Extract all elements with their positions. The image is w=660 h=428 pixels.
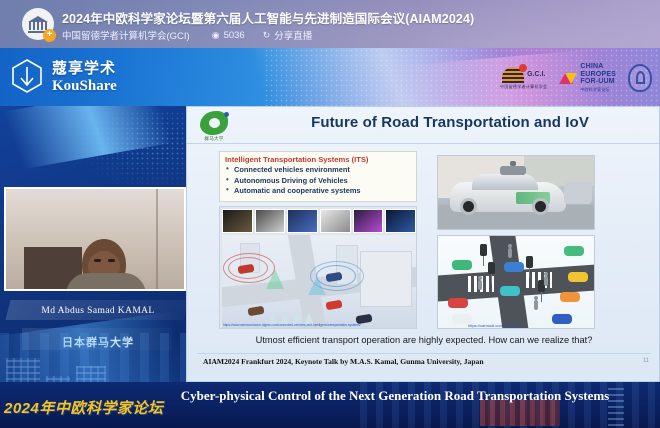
- bottom-banner: Cyber-physical Control of the Next Gener…: [0, 382, 660, 428]
- vehicle-cabin: [472, 174, 538, 190]
- pedestrian-3: [544, 276, 548, 286]
- university-logo-caption: 群马大学: [193, 136, 235, 142]
- its-bullet-3: Automatic and cooperative systems: [225, 186, 411, 197]
- webcam-door-edge: [156, 189, 158, 289]
- presentation-slide[interactable]: 群马大学 Future of Road Transportation and I…: [186, 106, 660, 382]
- speaker-shoulders: [66, 273, 146, 291]
- institution-icon: +: [22, 8, 54, 40]
- its-heading: Intelligent Transportation Systems (ITS): [225, 155, 411, 164]
- thumbnail-3: [287, 209, 318, 233]
- slide-title: Future of Road Transportation and IoV: [247, 114, 653, 131]
- thumbnail-2: [255, 209, 286, 233]
- gci-sun-icon: [502, 67, 524, 83]
- its-callout-box: Intelligent Transportation Systems (ITS)…: [219, 151, 417, 202]
- thumbnail-6: [385, 209, 416, 233]
- lightbulb-logo: [628, 64, 652, 92]
- background-vehicle: [564, 182, 592, 204]
- brand-name-en: KouShare: [52, 78, 117, 95]
- brand-band: 蔻享学术 KouShare G.C.I. 中国留德学者计算机学会 CHINA E…: [0, 48, 660, 106]
- hexagon-arrow-icon[interactable]: [10, 58, 44, 94]
- share-icon: ↻: [263, 30, 271, 41]
- diagram-vehicle-green: [452, 260, 472, 270]
- forum-line-3: FOR-UUM: [580, 78, 616, 86]
- slide-caption: Utmost efficient transport operation are…: [203, 335, 645, 345]
- lidar-sensor-icon: [500, 166, 526, 175]
- forum-subtext: 中欧科学家论坛: [580, 86, 616, 94]
- forum-text: CHINA EUROPES FOR-UUM 中欧科学家论坛: [580, 63, 616, 93]
- its-bullet-2: Autonomous Driving of Vehicles: [225, 176, 411, 187]
- building-a: [360, 251, 412, 307]
- china-europes-forum-logo: CHINA EUROPES FOR-UUM 中欧科学家论坛: [559, 63, 616, 93]
- diagram-vehicle-yellow: [568, 272, 588, 282]
- slide-title-divider: [187, 143, 660, 144]
- gci-mark: G.C.I.: [502, 67, 545, 83]
- organization-label: 中国留德学者计算机学会(GCI): [62, 28, 190, 42]
- speaker-eye-right: [108, 259, 115, 262]
- connected-intersection-illustration: https://www.semiconductor-digest.com/con…: [219, 206, 417, 329]
- slide-footer: AIAM2024 Frankfurt 2024, Keynote Talk by…: [203, 357, 603, 366]
- speaker-eye-left: [94, 259, 101, 262]
- forum-triangle-yellow-icon: [565, 73, 577, 84]
- diagram-vehicle-blue: [504, 262, 524, 272]
- gunma-university-logo: 群马大学: [193, 111, 235, 145]
- diagram-source-url[interactable]: https://carmudi.com/2017/10/: [468, 323, 520, 328]
- its-bullet-list: Connected vehicles environment Autonomou…: [225, 165, 411, 197]
- forum-mark: CHINA EUROPES FOR-UUM 中欧科学家论坛: [559, 63, 616, 93]
- livestream-page: + 2024年中欧科学家论坛暨第六届人工智能与先进制造国际会议(AIAM2024…: [0, 0, 660, 428]
- pedestrian-4: [534, 300, 538, 310]
- vehicle-brown: [247, 306, 264, 317]
- brand-name-cn: 蔻享学术: [52, 57, 116, 78]
- diagram-vehicle-cyan: [500, 286, 520, 296]
- banner-title: Cyber-physical Control of the Next Gener…: [180, 387, 610, 404]
- partner-logo-row: G.C.I. 中国留德学者计算机学会 CHINA EUROPES FOR-UUM…: [500, 56, 652, 100]
- pedestrian-1: [478, 280, 482, 290]
- forum-line-2: EUROPES: [580, 71, 616, 79]
- share-button[interactable]: ↻ 分享直播: [263, 28, 313, 42]
- forum-badge: 2024年中欧科学家论坛: [4, 392, 178, 422]
- diagram-vehicle-orange: [560, 292, 580, 302]
- vehicle-front-wheel: [460, 198, 477, 215]
- sensor-cone-green: [266, 269, 284, 289]
- intersection-scene: [222, 235, 416, 328]
- cooperative-intersection-diagram: https://carmudi.com/2017/10/: [437, 235, 595, 329]
- forum-badge-label: 2024年中欧科学家论坛: [4, 397, 163, 418]
- diagram-vehicle-green-2: [564, 246, 584, 256]
- thumbnail-1: [222, 209, 253, 233]
- view-count-value: 5036: [224, 30, 245, 41]
- eye-icon: ◉: [212, 30, 220, 41]
- university-dot-icon: [224, 112, 229, 117]
- gci-text: G.C.I.: [527, 71, 545, 78]
- thumbnail-strip: [222, 209, 416, 233]
- vehicle-red-2: [325, 300, 342, 311]
- diagram-vehicle-blue-2: [552, 314, 572, 324]
- traffic-light-2-icon: [488, 262, 495, 274]
- panel-dot-pattern: [70, 111, 190, 191]
- slide-page-number: 11: [643, 358, 649, 364]
- conference-title: 2024年中欧科学家论坛暨第六届人工智能与先进制造国际会议(AIAM2024): [62, 8, 474, 27]
- hexagon-arrow-svg: [10, 58, 44, 94]
- lightbulb-inner-icon: [636, 71, 645, 84]
- banner-tower: [608, 386, 624, 426]
- image-source-caption[interactable]: https://www.semiconductor-digest.com/con…: [223, 323, 413, 327]
- diagram-vehicle-red: [448, 298, 468, 308]
- its-bullet-1: Connected vehicles environment: [225, 165, 411, 176]
- forum-line-1: CHINA: [580, 63, 616, 71]
- thumbnail-4: [320, 209, 351, 233]
- conference-subline: 中国留德学者计算机学会(GCI) ◉ 5036 ↻ 分享直播: [62, 28, 312, 42]
- gci-subtext: 中国留德学者计算机学会: [500, 84, 547, 90]
- traffic-light-1-icon: [480, 244, 487, 256]
- sensor-cone-cyan: [308, 277, 326, 295]
- conference-header: + 2024年中欧科学家论坛暨第六届人工智能与先进制造国际会议(AIAM2024…: [0, 0, 660, 48]
- webcam-feed[interactable]: [4, 187, 186, 291]
- speaker-panel: Md Abdus Samad KAMAL 日本群马大学: [0, 106, 190, 428]
- traffic-light-3-icon: [526, 256, 533, 268]
- pedestrian-2: [508, 248, 512, 258]
- plus-icon: +: [43, 29, 56, 42]
- view-count: ◉ 5036: [212, 30, 245, 41]
- thumbnail-5: [353, 209, 384, 233]
- vehicle-rear-wheel: [532, 198, 549, 215]
- slide-footer-divider: [197, 353, 651, 354]
- university-leaf-icon: [200, 111, 228, 135]
- autonomous-vehicle-photo: [437, 155, 595, 230]
- share-label: 分享直播: [274, 28, 312, 42]
- gci-logo: G.C.I. 中国留德学者计算机学会: [500, 67, 547, 90]
